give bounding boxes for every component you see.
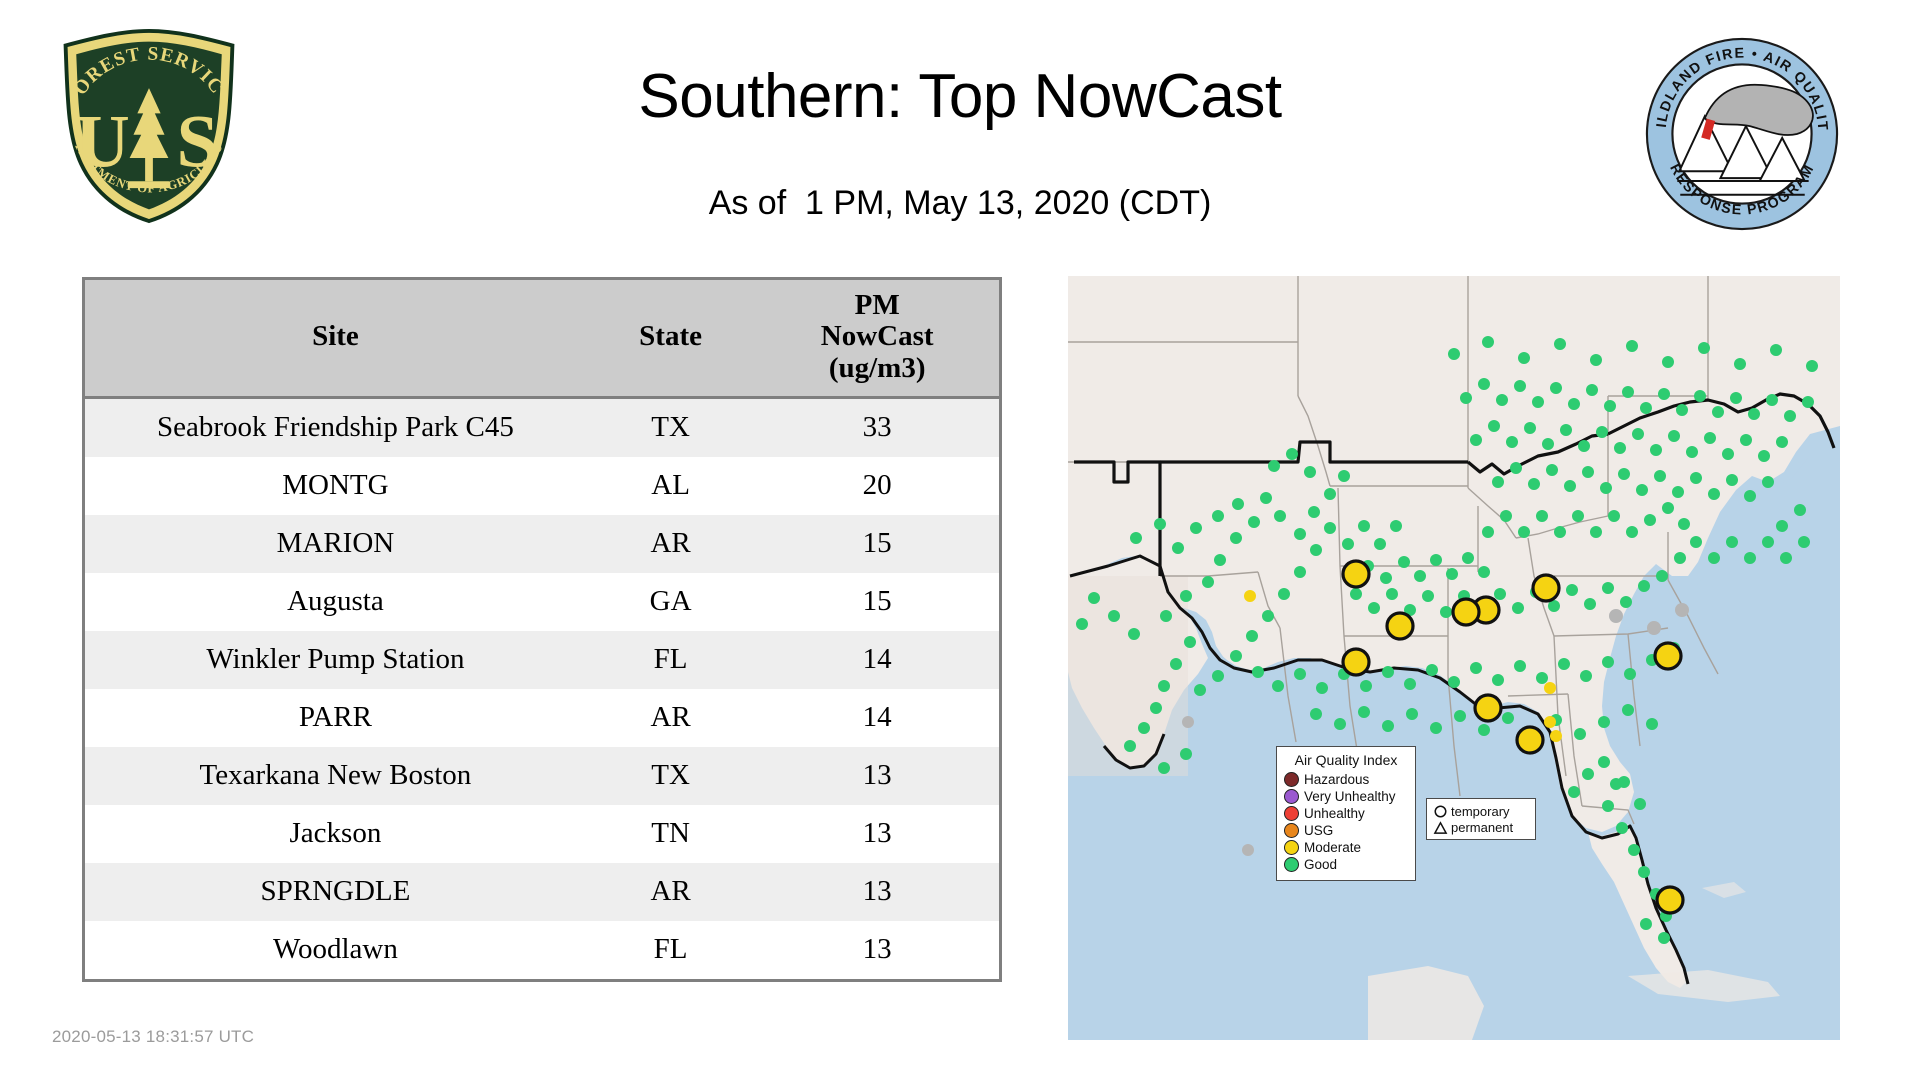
cell-site: Winkler Pump Station <box>85 631 586 689</box>
column-header-pm-nowcast: PM NowCast (ug/m3) <box>755 280 999 397</box>
column-header-site: Site <box>85 280 586 397</box>
marker-legend-row-temporary: temporary <box>1433 803 1529 819</box>
aqi-legend-row: Unhealthy <box>1284 805 1408 822</box>
cell-state: TX <box>586 397 756 457</box>
aqi-legend-label: Moderate <box>1304 840 1361 855</box>
cell-state: AR <box>586 863 756 921</box>
aqi-legend-row: Good <box>1284 856 1408 873</box>
column-header-state: State <box>586 280 756 397</box>
page-subtitle: As of 1 PM, May 13, 2020 (CDT) <box>0 182 1920 224</box>
aqi-legend-label: Unhealthy <box>1304 806 1365 821</box>
table-row: Winkler Pump StationFL14 <box>85 631 999 689</box>
circle-icon <box>1433 804 1448 819</box>
cell-pm-nowcast: 13 <box>755 805 999 863</box>
cell-pm-nowcast: 14 <box>755 631 999 689</box>
column-header-pm-line2: NowCast <box>759 321 995 352</box>
cell-pm-nowcast: 15 <box>755 573 999 631</box>
cell-site: Jackson <box>85 805 586 863</box>
table-header-row: Site State PM NowCast (ug/m3) <box>85 280 999 397</box>
column-header-pm-line3: (ug/m3) <box>759 353 995 384</box>
cell-state: TN <box>586 805 756 863</box>
aqi-legend-label: Hazardous <box>1304 772 1369 787</box>
footer-timestamp: 2020-05-13 18:31:57 UTC <box>52 1027 254 1047</box>
table-row: MARIONAR15 <box>85 515 999 573</box>
aqi-legend-swatch <box>1284 823 1299 838</box>
cell-site: Augusta <box>85 573 586 631</box>
aqi-legend-label: USG <box>1304 823 1333 838</box>
table-row: Seabrook Friendship Park C45TX33 <box>85 397 999 457</box>
table-row: PARRAR14 <box>85 689 999 747</box>
aqi-legend-swatch <box>1284 840 1299 855</box>
marker-type-legend: temporary permanent <box>1426 798 1536 840</box>
cell-site: Seabrook Friendship Park C45 <box>85 397 586 457</box>
aqi-legend-title: Air Quality Index <box>1284 752 1408 768</box>
table-row: WoodlawnFL13 <box>85 921 999 979</box>
cell-state: TX <box>586 747 756 805</box>
cell-site: MONTG <box>85 457 586 515</box>
cell-pm-nowcast: 13 <box>755 747 999 805</box>
column-header-pm-line1: PM <box>759 290 995 321</box>
table-row: MONTGAL20 <box>85 457 999 515</box>
page-title: Southern: Top NowCast <box>0 62 1920 132</box>
cell-pm-nowcast: 20 <box>755 457 999 515</box>
marker-legend-label-temporary: temporary <box>1451 804 1510 819</box>
cell-pm-nowcast: 13 <box>755 921 999 979</box>
aqi-legend-swatch <box>1284 789 1299 804</box>
cell-state: AL <box>586 457 756 515</box>
aqi-legend-row: USG <box>1284 822 1408 839</box>
aqi-legend-swatch <box>1284 857 1299 872</box>
cell-state: AR <box>586 689 756 747</box>
table-row: Texarkana New BostonTX13 <box>85 747 999 805</box>
cell-state: GA <box>586 573 756 631</box>
map-yucatan <box>1368 966 1484 1040</box>
cell-pm-nowcast: 13 <box>755 863 999 921</box>
cell-site: MARION <box>85 515 586 573</box>
triangle-icon <box>1433 820 1448 835</box>
table-row: SPRNGDLEAR13 <box>85 863 999 921</box>
table-row: AugustaGA15 <box>85 573 999 631</box>
cell-pm-nowcast: 15 <box>755 515 999 573</box>
wfaqrp-logo: WILDLAND FIRE • AIR QUALITY RESPONSE PRO… <box>1644 36 1840 232</box>
aqi-map[interactable]: Air Quality Index HazardousVery Unhealth… <box>1068 276 1840 1040</box>
aqi-legend-row: Moderate <box>1284 839 1408 856</box>
marker-legend-row-permanent: permanent <box>1433 819 1529 835</box>
aqi-legend-row: Very Unhealthy <box>1284 788 1408 805</box>
aqi-legend-swatch <box>1284 772 1299 787</box>
aqi-legend-row: Hazardous <box>1284 771 1408 788</box>
cell-state: FL <box>586 921 756 979</box>
table-row: JacksonTN13 <box>85 805 999 863</box>
cell-state: AR <box>586 515 756 573</box>
aqi-table: Site State PM NowCast (ug/m3) Seabrook F… <box>82 277 1002 982</box>
aqi-legend-label: Very Unhealthy <box>1304 789 1396 804</box>
cell-pm-nowcast: 33 <box>755 397 999 457</box>
cell-pm-nowcast: 14 <box>755 689 999 747</box>
aqi-legend-swatch <box>1284 806 1299 821</box>
cell-site: SPRNGDLE <box>85 863 586 921</box>
aqi-legend: Air Quality Index HazardousVery Unhealth… <box>1276 746 1416 881</box>
cell-site: Woodlawn <box>85 921 586 979</box>
marker-legend-label-permanent: permanent <box>1451 820 1513 835</box>
aqi-legend-label: Good <box>1304 857 1337 872</box>
cell-state: FL <box>586 631 756 689</box>
map-graphic <box>1068 276 1840 1040</box>
cell-site: PARR <box>85 689 586 747</box>
cell-site: Texarkana New Boston <box>85 747 586 805</box>
